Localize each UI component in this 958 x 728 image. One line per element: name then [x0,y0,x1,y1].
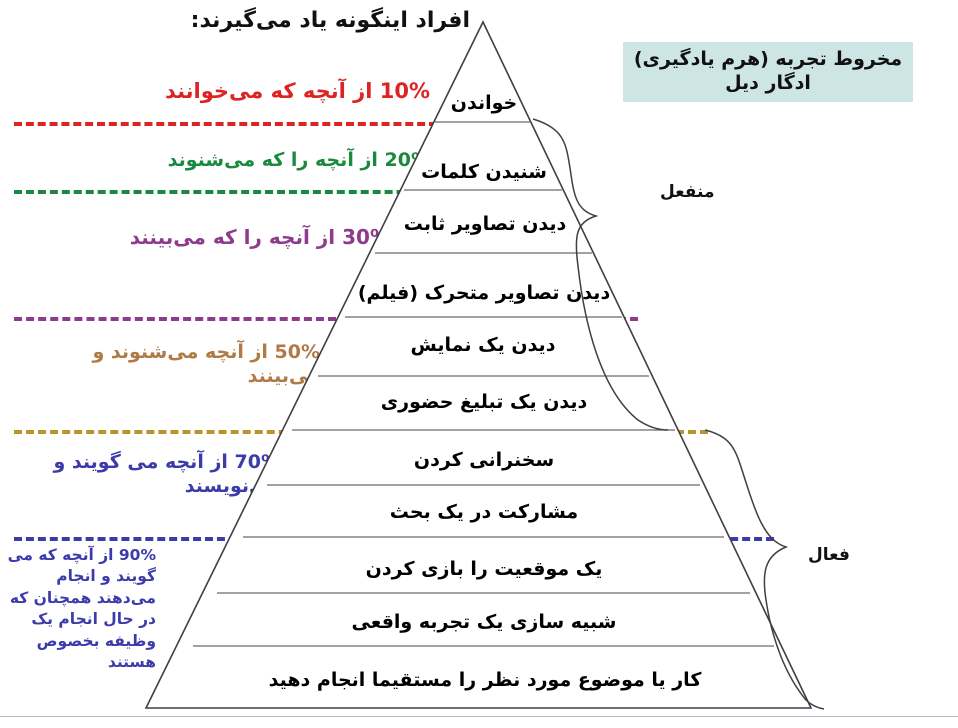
pyramid-level-5: دیدن یک نمایش [327,328,639,362]
pyramid-level-2: شنیدن کلمات [373,155,595,188]
pyramid-level-6: دیدن یک تبلیغ حضوری [318,385,650,419]
pyramid-level-1: خواندن [404,86,564,120]
pyramid-level-10: شبیه سازی یک تجربه واقعی [310,605,658,639]
brace-label-active: فعال [808,545,850,565]
pyramid-level-3: دیدن تصاویر ثابت [356,207,614,241]
pyramid-level-4: دیدن تصاویر متحرک (فیلم) [318,276,650,310]
pyramid-level-11: کار یا موضوع مورد نظر را مستقیما انجام د… [240,663,730,697]
brace-label-passive: منفعل [660,182,714,202]
bottom-divider [0,716,958,717]
pyramid-level-7: سخنرانی کردن [348,443,620,477]
pyramid-level-9: یک موقعیت را بازی کردن [310,552,658,586]
learning-pyramid-diagram: افراد اینگونه یاد می‌گیرند: مخروط تجربه … [0,0,958,728]
pyramid-level-8: مشارکت در یک بحث [330,495,638,529]
